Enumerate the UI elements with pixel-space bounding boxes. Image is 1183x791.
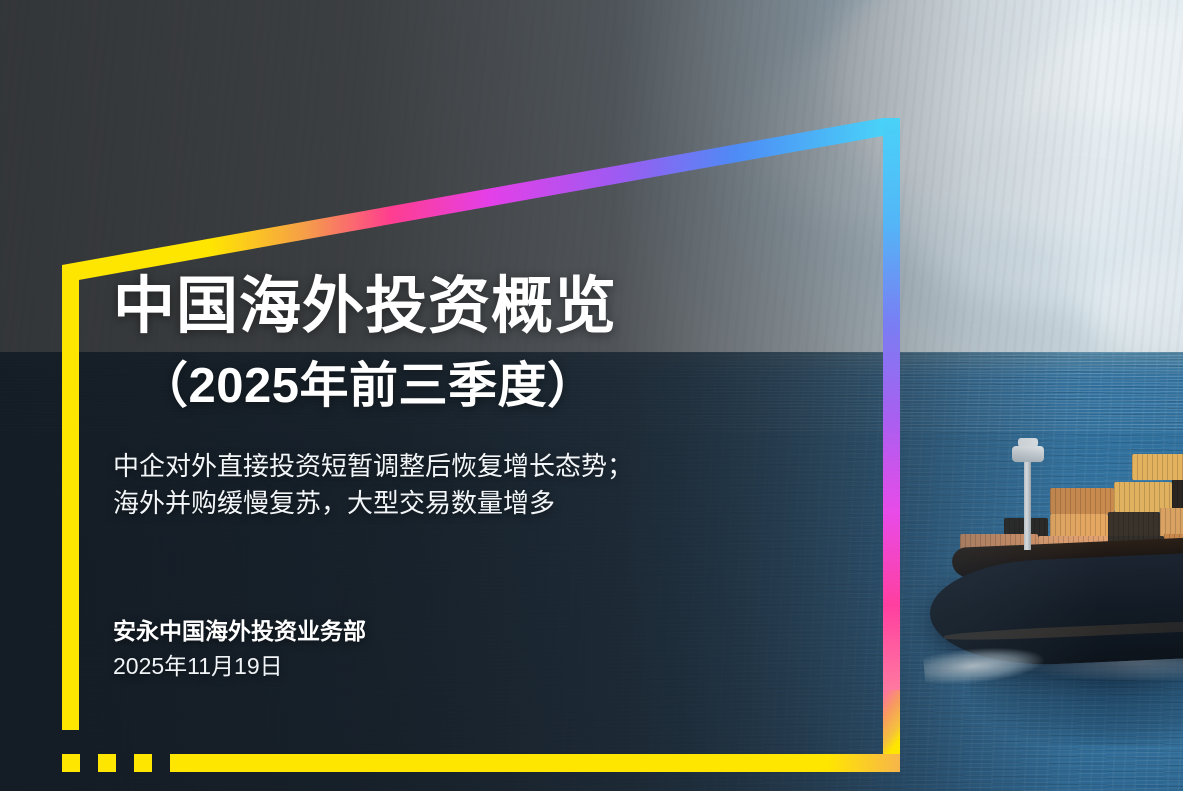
- presenter-meta: 安永中国海外投资业务部 2025年11月19日: [113, 614, 903, 683]
- page-subtitle: （2025年前三季度）: [139, 359, 903, 414]
- title-slide: 中国海外投资概览 （2025年前三季度） 中企对外直接投资短暂调整后恢复增长态势…: [0, 0, 1183, 791]
- lead-line-2: 海外并购缓慢复苏，大型交易数量增多: [113, 485, 903, 522]
- organization-name: 安永中国海外投资业务部: [113, 614, 903, 649]
- title-content: 中国海外投资概览 （2025年前三季度） 中企对外直接投资短暂调整后恢复增长态势…: [113, 272, 903, 683]
- lead-line-1: 中企对外直接投资短暂调整后恢复增长态势；: [113, 448, 903, 485]
- page-title: 中国海外投资概览: [113, 272, 903, 341]
- lead-paragraph: 中企对外直接投资短暂调整后恢复增长态势； 海外并购缓慢复苏，大型交易数量增多: [113, 448, 903, 522]
- presentation-date: 2025年11月19日: [113, 649, 903, 684]
